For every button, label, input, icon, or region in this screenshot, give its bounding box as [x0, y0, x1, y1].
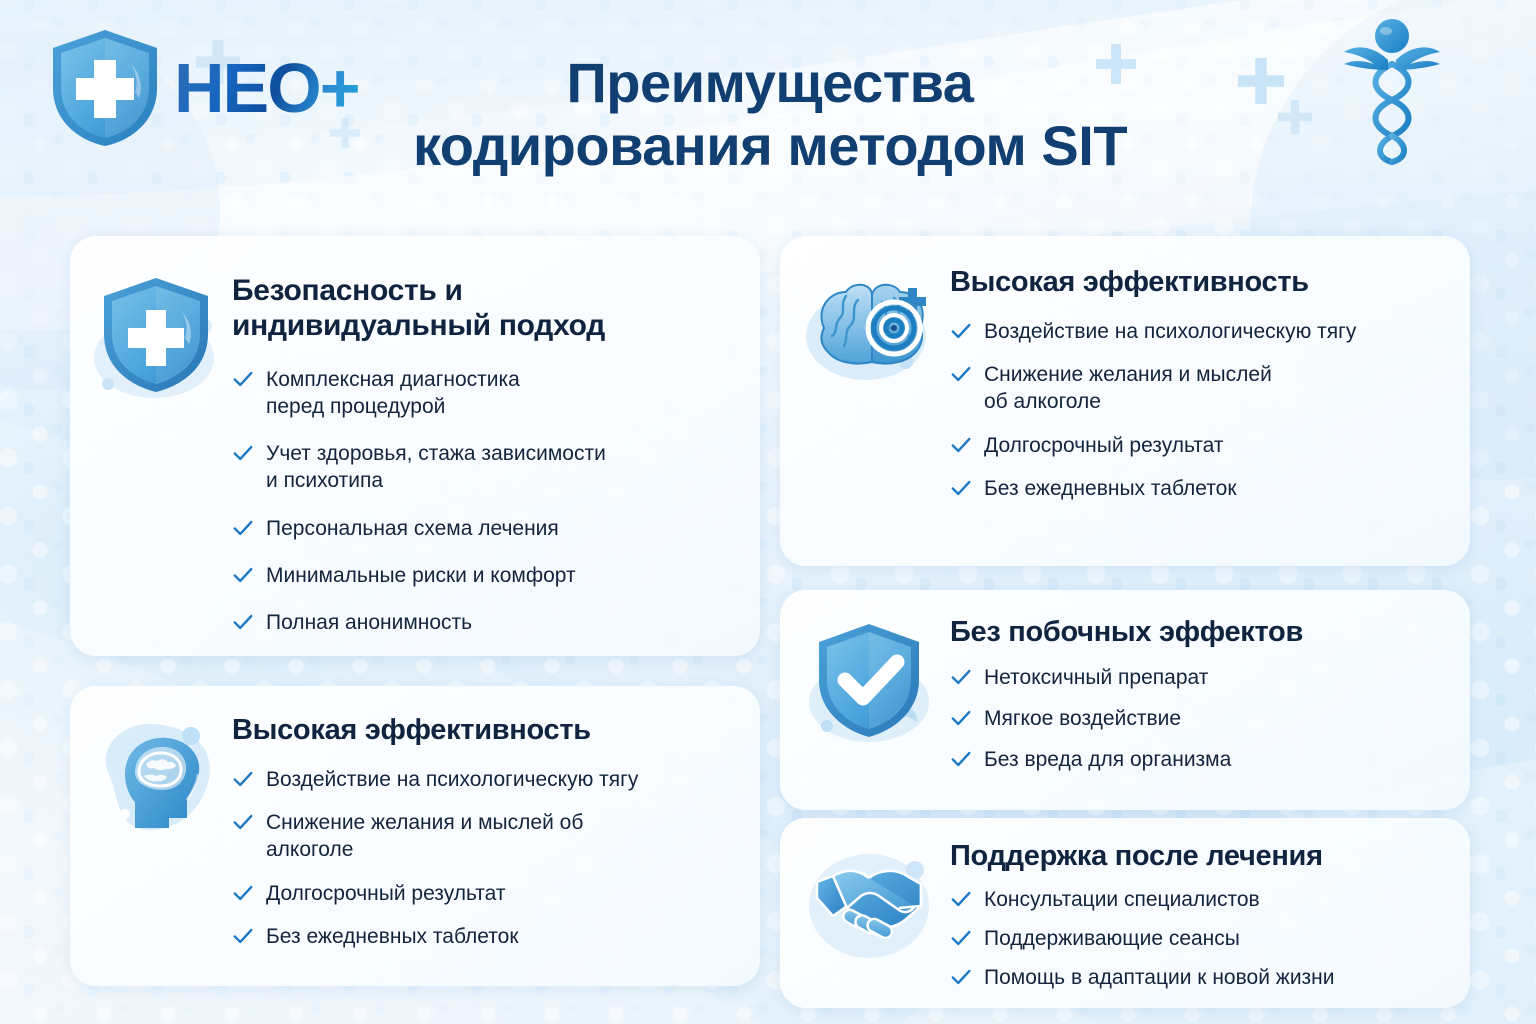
card-icon-wrap [790, 612, 950, 810]
card-icon-wrap [82, 260, 232, 656]
list-item: Без ежедневных таблеток [232, 923, 738, 950]
list-item-label: Без ежедневных таблеток [266, 923, 738, 950]
list-item-label: Снижение желания и мыслей об алкоголе [266, 809, 738, 864]
list-item: Долгосрочный результат [950, 432, 1448, 459]
header: НЕО+ Преимущества кодирования методом SI… [0, 0, 1536, 215]
list-item-label: Долгосрочный результат [984, 432, 1448, 459]
list-item-label: Мягкое воздействие [984, 705, 1448, 732]
list-item-label: Консультации специалистов [984, 886, 1448, 913]
list-item: Снижение желания и мыслей об алкоголе [950, 361, 1448, 416]
list-item-label: Поддерживающие сеансы [984, 925, 1448, 952]
list-item-label: Снижение желания и мыслей об алкоголе [984, 361, 1448, 416]
list-item-label: Без ежедневных таблеток [984, 475, 1448, 502]
shield-cross-icon [92, 272, 222, 412]
benefit-list: Консультации специалистов Поддерживающие… [950, 886, 1448, 992]
card-effectiveness-left[interactable]: Высокая эффективность Воздействие на пси… [70, 686, 760, 986]
check-icon [950, 363, 972, 385]
check-icon [232, 368, 254, 390]
check-icon [950, 434, 972, 456]
check-icon [950, 707, 972, 729]
list-item-label: Минимальные риски и комфорт [266, 562, 738, 589]
list-item: Консультации специалистов [950, 886, 1448, 913]
shield-cross-icon [44, 26, 166, 150]
head-brain-icon [91, 714, 223, 846]
list-item: Снижение желания и мыслей об алкоголе [232, 809, 738, 864]
list-item: Помощь в адаптации к новой жизни [950, 964, 1448, 991]
check-icon [232, 882, 254, 904]
check-icon [950, 888, 972, 910]
list-item-label: Персональная схема лечения [266, 515, 738, 542]
infographic-stage: НЕО+ Преимущества кодирования методом SI… [0, 0, 1536, 1024]
page-title: Преимущества кодирования методом SIT [310, 52, 1230, 177]
card-title-line1: Безопасность и [232, 274, 738, 309]
benefit-list: Нетоксичный препарат Мягкое воздействие … [950, 664, 1448, 774]
list-item: Поддерживающие сеансы [950, 925, 1448, 952]
check-icon [232, 925, 254, 947]
check-icon [950, 477, 972, 499]
card-effectiveness-right[interactable]: Высокая эффективность Воздействие на пси… [780, 236, 1470, 566]
check-icon [232, 442, 254, 464]
list-item-label: Воздействие на психологическую тягу [266, 766, 738, 793]
check-icon [950, 748, 972, 770]
card-side-effects[interactable]: Без побочных эффектов Нетоксичный препар… [780, 590, 1470, 810]
card-title: Высокая эффективность [950, 266, 1448, 300]
card-title: Безопасность и индивидуальный подход [232, 274, 738, 344]
card-title-line1: Без побочных эффектов [950, 616, 1448, 650]
page-title-line2: кодирования методом SIT [310, 115, 1230, 178]
card-safety[interactable]: Безопасность и индивидуальный подход Ком… [70, 236, 760, 656]
benefit-list: Воздействие на психологическую тягу Сниж… [232, 766, 738, 950]
card-title: Без побочных эффектов [950, 616, 1448, 650]
card-title: Поддержка после лечения [950, 840, 1448, 874]
check-icon [950, 320, 972, 342]
list-item: Персональная схема лечения [232, 515, 738, 542]
list-item-label: Воздействие на психологическую тягу [984, 318, 1448, 345]
card-icon-wrap [790, 262, 950, 566]
card-icon-wrap [790, 838, 950, 1008]
check-icon [232, 564, 254, 586]
list-item: Нетоксичный препарат [950, 664, 1448, 691]
check-icon [232, 768, 254, 790]
card-title: Высокая эффективность [232, 714, 738, 748]
handshake-icon [803, 848, 937, 966]
brain-target-icon [802, 266, 938, 392]
card-title-line2: индивидуальный подход [232, 309, 738, 344]
benefit-list: Комплексная диагностика перед процедурой… [232, 366, 738, 637]
list-item: Долгосрочный результат [232, 880, 738, 907]
check-icon [950, 927, 972, 949]
check-icon [950, 666, 972, 688]
card-icon-wrap [82, 708, 232, 986]
list-item: Минимальные риски и комфорт [232, 562, 738, 589]
list-item-label: Полная анонимность [266, 609, 738, 636]
list-item: Без вреда для организма [950, 746, 1448, 773]
list-item: Воздействие на психологическую тягу [232, 766, 738, 793]
card-title-line1: Высокая эффективность [232, 714, 738, 748]
card-title-line1: Высокая эффективность [950, 266, 1448, 300]
check-icon [232, 517, 254, 539]
list-item-label: Без вреда для организма [984, 746, 1448, 773]
caduceus-icon [1336, 12, 1448, 180]
list-item-label: Нетоксичный препарат [984, 664, 1448, 691]
list-item-label: Комплексная диагностика перед процедурой [266, 366, 738, 421]
card-support[interactable]: Поддержка после лечения Консультации спе… [780, 818, 1470, 1008]
check-icon [232, 811, 254, 833]
shield-check-icon [805, 618, 935, 758]
page-title-line1: Преимущества [310, 52, 1230, 115]
check-icon [232, 611, 254, 633]
card-title-line1: Поддержка после лечения [950, 840, 1448, 874]
list-item: Воздействие на психологическую тягу [950, 318, 1448, 345]
list-item: Без ежедневных таблеток [950, 475, 1448, 502]
list-item: Учет здоровья, стажа зависимости и психо… [232, 440, 738, 495]
list-item: Комплексная диагностика перед процедурой [232, 366, 738, 421]
list-item-label: Долгосрочный результат [266, 880, 738, 907]
list-item: Полная анонимность [232, 609, 738, 636]
list-item: Мягкое воздействие [950, 705, 1448, 732]
benefit-list: Воздействие на психологическую тягу Сниж… [950, 318, 1448, 502]
check-icon [950, 966, 972, 988]
list-item-label: Помощь в адаптации к новой жизни [984, 964, 1448, 991]
list-item-label: Учет здоровья, стажа зависимости и психо… [266, 440, 738, 495]
